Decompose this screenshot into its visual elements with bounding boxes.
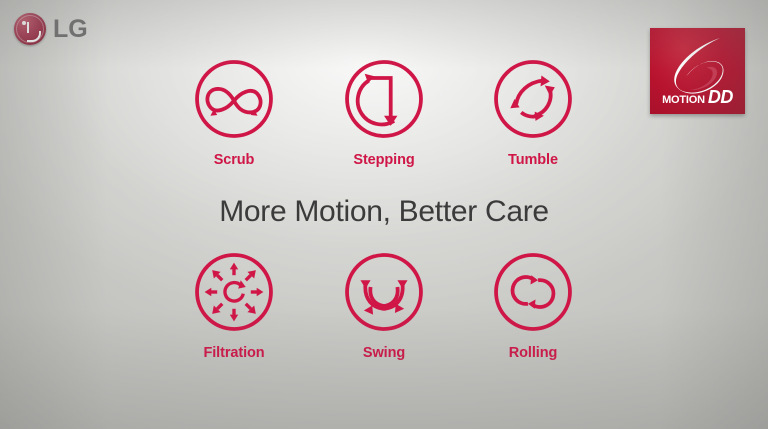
- motion-label-stepping: Stepping: [319, 152, 449, 168]
- motion-label-tumble: Tumble: [468, 152, 598, 168]
- motion-label-scrub: Scrub: [169, 152, 299, 168]
- motion-label-filtration: Filtration: [169, 345, 299, 361]
- radiating-arrows-icon: [192, 250, 276, 334]
- six-motion-dd-badge: MOTION DD: [650, 28, 745, 114]
- badge-motion-label: MOTION: [662, 94, 705, 106]
- motion-item-rolling[interactable]: Rolling: [468, 250, 598, 361]
- lg-wordmark: LG: [53, 17, 88, 42]
- motion-label-swing: Swing: [319, 345, 449, 361]
- lg-circle-face-icon: [14, 13, 46, 45]
- overlapping-circles-icon: [491, 250, 575, 334]
- arc-down-arrow-icon: [342, 57, 426, 141]
- pendulum-arrows-icon: [342, 250, 426, 334]
- two-curved-arrows-icon: [491, 57, 575, 141]
- lg-logo: LG: [14, 13, 88, 45]
- motion-item-filtration[interactable]: Filtration: [169, 250, 299, 361]
- promo-graphic: LG MOTION DD Scrub: [0, 0, 768, 429]
- badge-dd-label: DD: [708, 87, 733, 108]
- motion-item-swing[interactable]: Swing: [319, 250, 449, 361]
- infinity-arrows-icon: [192, 57, 276, 141]
- motion-label-rolling: Rolling: [468, 345, 598, 361]
- page-title: More Motion, Better Care: [0, 195, 768, 229]
- motion-item-scrub[interactable]: Scrub: [169, 57, 299, 168]
- motion-item-stepping[interactable]: Stepping: [319, 57, 449, 168]
- motion-item-tumble[interactable]: Tumble: [468, 57, 598, 168]
